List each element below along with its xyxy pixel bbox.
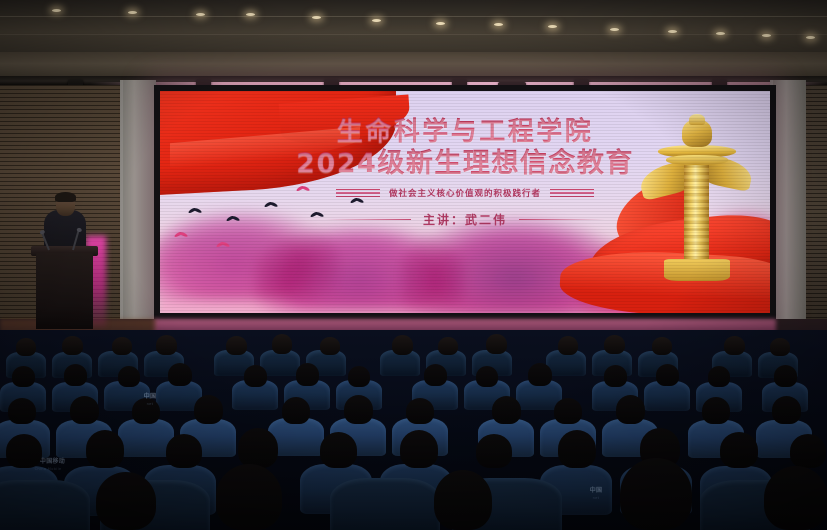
flying-goose-icon (264, 203, 277, 210)
audience-head (708, 366, 730, 387)
decor-rule-right (519, 219, 605, 220)
audience-head (64, 364, 87, 386)
audience-head (774, 365, 797, 387)
decor-lines-right (550, 189, 594, 198)
audience-head (702, 397, 730, 424)
audience-head (244, 365, 267, 387)
audience-head (438, 337, 458, 355)
audience-head (554, 398, 582, 424)
audience-head (348, 366, 370, 387)
audience-head (344, 395, 373, 424)
audience-head (166, 434, 202, 468)
audience-head (168, 363, 192, 386)
audience-head (772, 396, 801, 424)
audience-head (156, 335, 177, 355)
audience-head (476, 434, 512, 468)
audience-head (492, 396, 521, 424)
podium (36, 253, 93, 329)
auditorium-photo: 生命科学与工程学院 2024级新生理想信念教育 做社会主义核心价值观的积极践行者… (0, 0, 827, 530)
audience-head (96, 472, 156, 530)
audience-head (70, 396, 99, 424)
screen-title-line-2: 2024级新生理想信念教育 (250, 148, 680, 179)
seat-logo-cn: 中国移动 (40, 458, 65, 465)
audience-head (720, 432, 758, 468)
audience-head (400, 430, 438, 468)
audience-head (62, 336, 83, 355)
audience-head (652, 337, 672, 355)
audience-head (216, 464, 282, 530)
audience-head (406, 398, 434, 424)
screen-title-block: 生命科学与工程学院 2024级新生理想信念教育 (250, 117, 680, 179)
audience-seating: 中国移动 China Mobile 中国 net 中国 net (0, 330, 827, 530)
audience-head (12, 366, 35, 387)
audience-head (656, 364, 679, 386)
screen-subtitle-row: 做社会主义核心价值观的积极践行者 (250, 187, 680, 199)
audience-head (226, 336, 247, 355)
seat-logo-alt-en-2: net (566, 495, 626, 501)
audience-head (476, 366, 498, 387)
flying-goose-icon (216, 243, 229, 250)
audience-head (604, 335, 625, 354)
audience-head (434, 470, 492, 530)
audience-head (770, 338, 790, 356)
seat-cover-logo-alt: 中国 net (566, 488, 626, 501)
audience-head (282, 397, 310, 424)
audience-head (616, 395, 645, 424)
screen-speaker-name: 主讲：武二伟 (423, 211, 507, 228)
screen-subtitle: 做社会主义核心价值观的积极践行者 (389, 187, 541, 199)
decor-rule-left (325, 219, 411, 220)
decor-lines-left (336, 189, 380, 198)
pillar-left (120, 80, 156, 330)
led-screen: 生命科学与工程学院 2024级新生理想信念教育 做社会主义核心价值观的积极践行者… (154, 85, 776, 319)
audience-head (424, 364, 447, 386)
seat-logo-alt-cn: 中国 (144, 393, 157, 400)
audience-head (558, 430, 596, 468)
flying-goose-icon (226, 217, 239, 224)
flying-goose-icon (174, 233, 187, 240)
audience-head (558, 336, 578, 355)
audience-head (724, 336, 745, 355)
audience-head (790, 434, 826, 468)
ceiling-soffit (0, 52, 827, 78)
audience-head (272, 334, 292, 354)
audience-head (16, 338, 36, 356)
presenter-hair (55, 192, 76, 202)
audience-head (604, 365, 627, 387)
audience-head (86, 430, 124, 468)
audience-head (118, 366, 140, 387)
audience-head (486, 334, 507, 354)
audience-head (320, 432, 357, 468)
audience-head (194, 395, 223, 424)
audience-head (238, 428, 278, 468)
audience-head (112, 337, 132, 355)
audience-head (296, 363, 319, 386)
screen-title-line-1: 生命科学与工程学院 (250, 117, 680, 148)
seat-logo-alt-cn-2: 中国 (590, 487, 603, 494)
audience-head (8, 398, 36, 424)
seat (0, 480, 90, 530)
audience-head (620, 458, 692, 530)
flying-goose-icon (350, 199, 363, 206)
flying-goose-icon (188, 209, 201, 216)
audience-head (392, 335, 413, 355)
seat-logo-alt-en: net (120, 401, 180, 407)
seat (330, 478, 440, 530)
golden-huabiao-icon (638, 109, 756, 299)
audience-head (528, 363, 552, 386)
audience-head (764, 466, 827, 530)
seat-cover-logo-alt: 中国 net (120, 394, 180, 407)
audience-head (320, 337, 340, 355)
ceiling (0, 0, 827, 52)
audience-head (6, 434, 42, 468)
